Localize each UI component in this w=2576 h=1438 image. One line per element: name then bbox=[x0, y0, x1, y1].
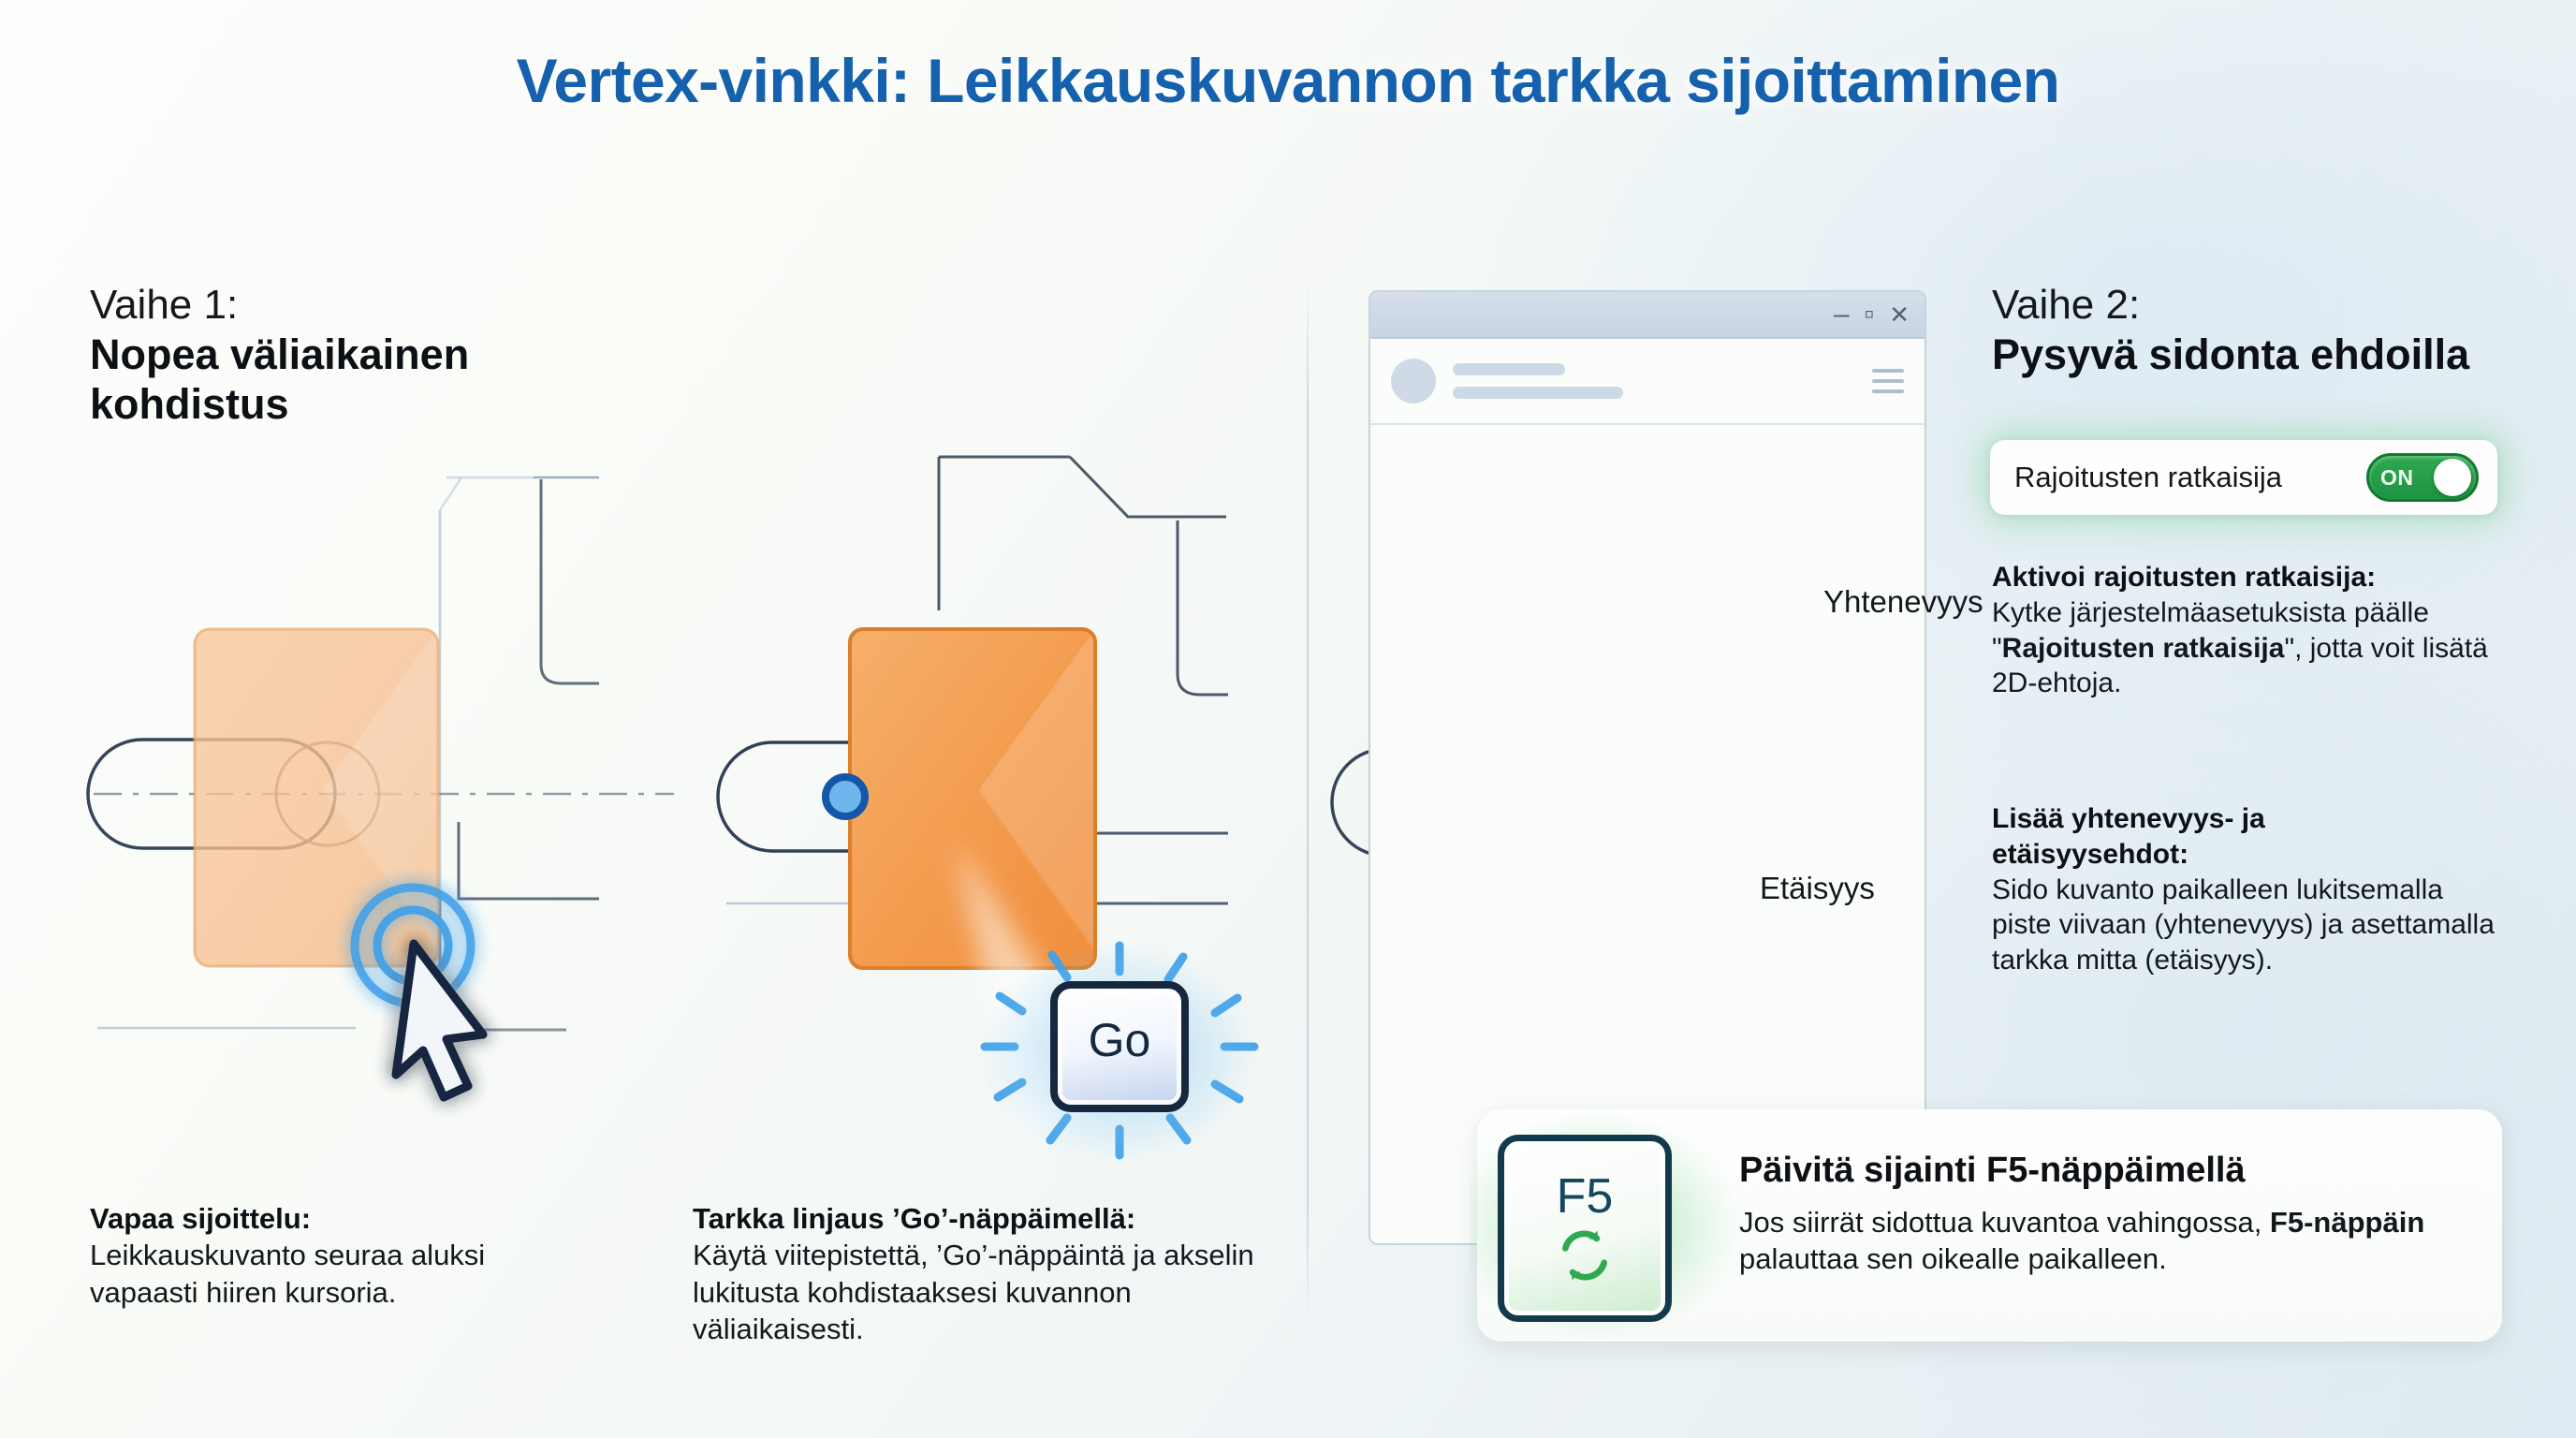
application-window-mockup: – ▫ ✕ bbox=[1368, 290, 1926, 1245]
column-divider bbox=[1307, 281, 1309, 1320]
f5-tip-text: Päivitä sijainti F5-näppäimellä Jos siir… bbox=[1739, 1150, 2479, 1278]
right-paragraph-1-body: Kytke järjestelmäasetuksista päälle "Raj… bbox=[1992, 595, 2497, 701]
mouse-cursor-icon bbox=[396, 944, 483, 1097]
right-paragraph-2-body: Sido kuvanto paikalleen lukitsemalla pis… bbox=[1992, 873, 2497, 978]
page-title: Vertex-vinkki: Leikkauskuvannon tarkka s… bbox=[0, 45, 2576, 116]
avatar bbox=[1391, 359, 1436, 404]
step-1-heading: Vaihe 1: Nopea väliaikainen kohdistus bbox=[90, 281, 469, 429]
caption-go-key-alignment: Tarkka linjaus ’Go’-näppäimellä: Käytä v… bbox=[693, 1200, 1254, 1347]
step-1-title-line2: kohdistus bbox=[90, 379, 469, 429]
window-header bbox=[1370, 339, 1925, 425]
panel-1-technical-drawing bbox=[88, 477, 674, 1030]
placeholder-bar-1 bbox=[1453, 363, 1565, 375]
right-paragraph-2-title-line2: etäisyysehdot: bbox=[1992, 837, 2497, 873]
window-maximize-icon[interactable]: ▫ bbox=[1865, 301, 1875, 329]
f5-tip-body: Jos siirrät sidottua kuvantoa vahingossa… bbox=[1739, 1204, 2479, 1278]
step-2-title: Pysyvä sidonta ehdoilla bbox=[1992, 330, 2469, 379]
right-paragraph-2-title-line1: Lisää yhtenevyys- ja bbox=[1992, 801, 2497, 837]
constraint-solver-toggle[interactable]: ON bbox=[2366, 453, 2479, 502]
step-2-heading: Vaihe 2: Pysyvä sidonta ehdoilla bbox=[1992, 281, 2469, 379]
step-1-kicker: Vaihe 1: bbox=[90, 281, 469, 330]
step-2-kicker: Vaihe 2: bbox=[1992, 281, 2469, 330]
go-key[interactable]: Go bbox=[1050, 981, 1189, 1112]
rp1-strong: Rajoitusten ratkaisija bbox=[2002, 633, 2285, 664]
coincidence-label: Yhtenevyys bbox=[1823, 584, 1983, 620]
f5-body-pre: Jos siirrät sidottua kuvantoa vahingossa… bbox=[1739, 1206, 2270, 1239]
f5-body-post: palauttaa sen oikealle paikalleen. bbox=[1739, 1242, 2167, 1275]
window-titlebar: – ▫ ✕ bbox=[1370, 292, 1925, 339]
distance-label: Etäisyys bbox=[1760, 871, 1875, 906]
right-paragraph-1-title: Aktivoi rajoitusten ratkaisija: bbox=[1992, 560, 2497, 595]
caption-2-body: Käytä viitepistettä, ’Go’-näppäintä ja a… bbox=[693, 1237, 1254, 1347]
caption-1-body: Leikkauskuvanto seuraa aluksi vapaasti h… bbox=[90, 1237, 577, 1311]
toggle-knob bbox=[2434, 459, 2471, 496]
infographic-canvas: Vertex-vinkki: Leikkauskuvannon tarkka s… bbox=[0, 0, 2576, 1438]
f5-tip-title: Päivitä sijainti F5-näppäimellä bbox=[1739, 1150, 2479, 1193]
f5-key-label: F5 bbox=[1557, 1172, 1614, 1221]
step-1-title-line1: Nopea väliaikainen bbox=[90, 330, 469, 379]
refresh-icon bbox=[1556, 1226, 1614, 1284]
window-minimize-icon[interactable]: – bbox=[1834, 301, 1850, 329]
caption-1-title: Vapaa sijoittelu: bbox=[90, 1200, 577, 1237]
toggle-state-text: ON bbox=[2380, 465, 2414, 491]
click-ripple-icon bbox=[355, 888, 471, 1004]
menu-icon[interactable] bbox=[1872, 369, 1904, 393]
placeholder-bar-2 bbox=[1453, 387, 1623, 399]
caption-2-title: Tarkka linjaus ’Go’-näppäimellä: bbox=[693, 1200, 1254, 1237]
window-close-icon[interactable]: ✕ bbox=[1889, 302, 1910, 327]
f5-body-strong: F5-näppäin bbox=[2270, 1206, 2424, 1239]
right-paragraph-constraints: Lisää yhtenevyys- ja etäisyysehdot: Sido… bbox=[1992, 801, 2497, 978]
caption-free-placement: Vapaa sijoittelu: Leikkauskuvanto seuraa… bbox=[90, 1200, 577, 1311]
constraint-solver-label: Rajoitusten ratkaisija bbox=[2014, 461, 2282, 494]
constraint-solver-setting-card[interactable]: Rajoitusten ratkaisija ON bbox=[1990, 440, 2497, 515]
f5-key[interactable]: F5 bbox=[1498, 1135, 1672, 1322]
right-paragraph-activate: Aktivoi rajoitusten ratkaisija: Kytke jä… bbox=[1992, 560, 2497, 701]
go-key-label: Go bbox=[1089, 1017, 1151, 1064]
